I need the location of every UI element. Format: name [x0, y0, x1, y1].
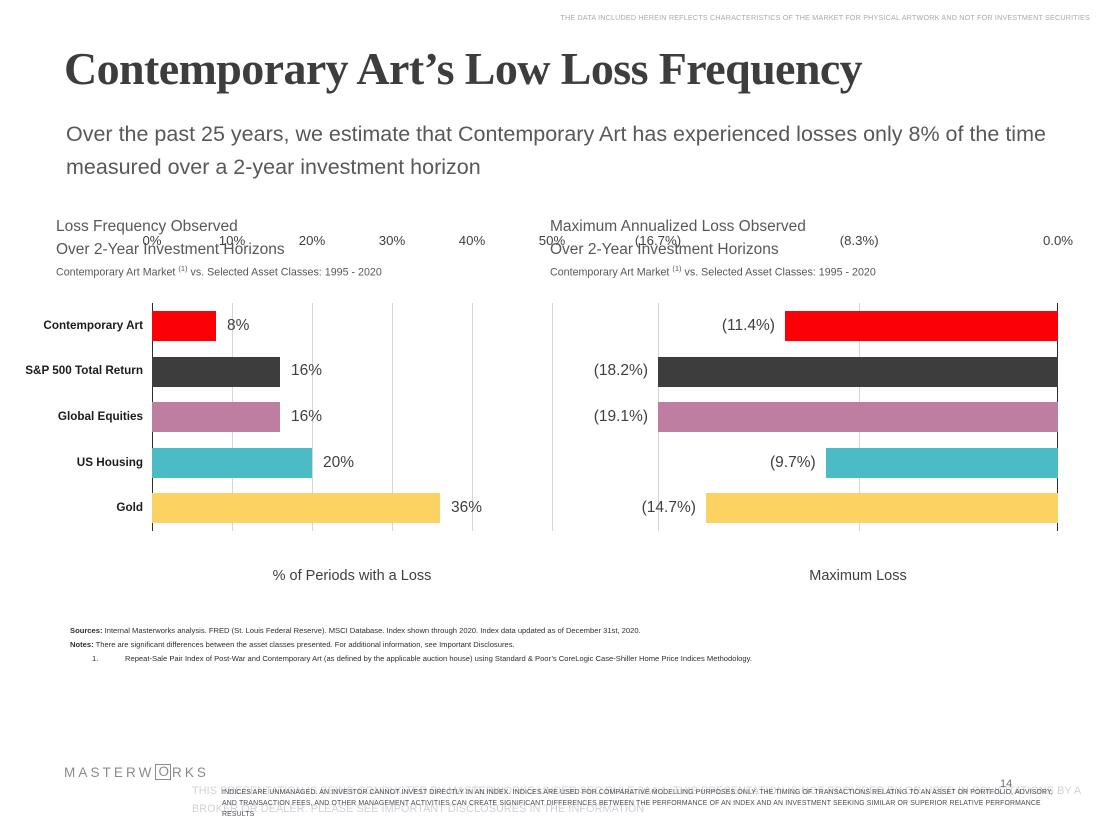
chart-gridline — [552, 303, 553, 531]
bar-value-label: 36% — [451, 499, 482, 517]
page-title: Contemporary Art’s Low Loss Frequency — [64, 42, 862, 95]
logo-part-2: RKS — [172, 765, 209, 780]
bar-global-equities[interactable] — [152, 402, 280, 432]
top-disclaimer: THE DATA INCLUDED HEREIN REFLECTS CHARAC… — [0, 13, 1090, 22]
category-label-s-p-500-total-return: S&P 500 Total Return — [12, 364, 152, 379]
footnote-sources-text: Internal Masterworks analysis. FRED (St.… — [103, 626, 641, 635]
x-tick-label: 20% — [299, 233, 325, 248]
left-chart-subtitle: Contemporary Art Market (1) vs. Selected… — [56, 264, 556, 279]
bar-row: (11.4%) — [658, 303, 1058, 349]
x-tick-label: 10% — [219, 233, 245, 248]
category-label-gold: Gold — [12, 501, 152, 516]
bar-s-p-500-total-return[interactable] — [658, 357, 1058, 387]
right-subtitle-footnote-marker: (1) — [672, 264, 681, 273]
footnote-item-1: 1. Repeat-Sale Pair Index of Post-War an… — [70, 652, 1030, 666]
bar-row: 20%US Housing — [152, 440, 552, 486]
category-label-global-equities: Global Equities — [12, 410, 152, 425]
x-tick-label: 50% — [539, 233, 565, 248]
bar-us-housing[interactable] — [152, 448, 312, 478]
footnote-item-1-text: Repeat-Sale Pair Index of Post-War and C… — [125, 652, 752, 666]
bar-row: 8%Contemporary Art — [152, 303, 552, 349]
category-label-contemporary-art: Contemporary Art — [12, 319, 152, 334]
page-subheadline: Over the past 25 years, we estimate that… — [66, 118, 1056, 184]
loss-frequency-x-ticks: 0%10%20%30%40%50% — [152, 233, 552, 255]
bar-value-label: (14.7%) — [642, 499, 696, 517]
footnote-sources-label: Sources: — [70, 626, 103, 635]
footnote-notes-label: Notes: — [70, 640, 94, 649]
bar-row: (18.2%) — [658, 349, 1058, 395]
bar-us-housing[interactable] — [826, 448, 1058, 478]
bar-s-p-500-total-return[interactable] — [152, 357, 280, 387]
page-number: 14 — [1000, 778, 1012, 790]
x-tick-label: (8.3%) — [840, 233, 879, 248]
bar-contemporary-art[interactable] — [785, 311, 1058, 341]
right-subtitle-pre: Contemporary Art Market — [550, 267, 672, 279]
right-chart-subtitle: Contemporary Art Market (1) vs. Selected… — [550, 264, 1070, 279]
right-subtitle-post: vs. Selected Asset Classes: 1995 - 2020 — [682, 267, 876, 279]
loss-frequency-x-axis-label: % of Periods with a Loss — [152, 568, 552, 584]
maximum-loss-chart: (11.4%)(18.2%)(19.1%)(9.7%)(14.7%) — [658, 303, 1058, 531]
bar-value-label: 16% — [291, 408, 322, 426]
bar-gold[interactable] — [706, 493, 1058, 523]
bottom-disclaimer-small: INDICES ARE UNMANAGED. AN INVESTOR CANNO… — [222, 787, 1062, 821]
bar-contemporary-art[interactable] — [152, 311, 216, 341]
bar-row: 16%Global Equities — [152, 394, 552, 440]
bar-value-label: (9.7%) — [770, 454, 816, 472]
x-tick-label: 0.0% — [1043, 233, 1073, 248]
bar-value-label: (18.2%) — [594, 362, 648, 380]
left-subtitle-pre: Contemporary Art Market — [56, 267, 178, 279]
x-tick-label: 40% — [459, 233, 485, 248]
footnote-notes-text: There are significant differences betwee… — [94, 640, 515, 649]
x-tick-label: (16.7%) — [635, 233, 681, 248]
bar-row: (19.1%) — [658, 394, 1058, 440]
masterworks-logo: MASTERWORKS — [64, 764, 209, 780]
bar-row: (14.7%) — [658, 485, 1058, 531]
bar-value-label: 20% — [323, 454, 354, 472]
bar-row: 16%S&P 500 Total Return — [152, 349, 552, 395]
bar-gold[interactable] — [152, 493, 440, 523]
bar-row: (9.7%) — [658, 440, 1058, 486]
bar-row: 36%Gold — [152, 485, 552, 531]
left-subtitle-post: vs. Selected Asset Classes: 1995 - 2020 — [188, 267, 382, 279]
category-label-us-housing: US Housing — [12, 455, 152, 470]
left-subtitle-footnote-marker: (1) — [178, 264, 187, 273]
x-tick-label: 0% — [142, 233, 161, 248]
maximum-loss-x-ticks: (16.7%)(8.3%)0.0% — [658, 233, 1058, 255]
logo-boxed-o: O — [155, 764, 171, 780]
footnote-sources: Sources: Internal Masterworks analysis. … — [70, 624, 1030, 638]
loss-frequency-chart: 8%Contemporary Art16%S&P 500 Total Retur… — [152, 303, 552, 531]
bar-global-equities[interactable] — [658, 402, 1058, 432]
footnote-notes: Notes: There are significant differences… — [70, 638, 1030, 652]
bar-value-label: (11.4%) — [722, 317, 775, 335]
logo-part-1: MASTERW — [64, 765, 154, 780]
bar-value-label: 8% — [227, 317, 249, 335]
footnotes-block: Sources: Internal Masterworks analysis. … — [70, 624, 1030, 666]
maximum-loss-x-axis-label: Maximum Loss — [658, 568, 1058, 584]
bar-value-label: (19.1%) — [594, 408, 648, 426]
x-tick-label: 30% — [379, 233, 405, 248]
footnote-item-1-number: 1. — [70, 652, 125, 666]
bar-value-label: 16% — [291, 362, 322, 380]
